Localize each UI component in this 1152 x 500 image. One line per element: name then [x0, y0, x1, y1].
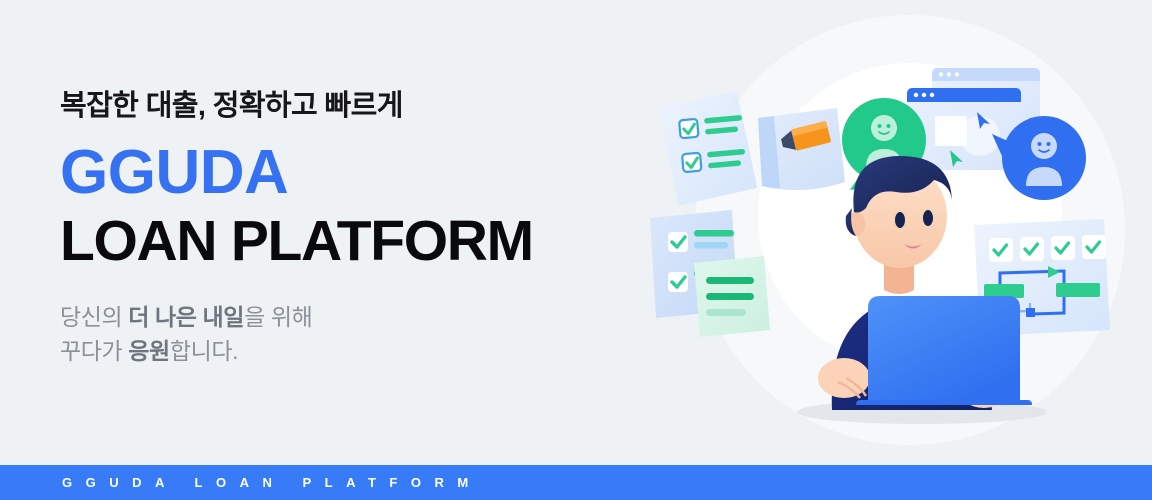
- tagline-2-prefix: 꾸다가: [60, 338, 128, 364]
- ticker-text: GGUDA LOAN PLATFORM: [0, 475, 482, 490]
- tagline-1-strong: 더 나은 내일: [128, 304, 244, 330]
- hero-banner: 복잡한 대출, 정확하고 빠르게 GGUDA LOAN PLATFORM 당신의…: [0, 0, 1152, 500]
- tagline-1-prefix: 당신의: [60, 304, 128, 330]
- laptop: [856, 296, 1032, 405]
- tagline-line-2: 꾸다가 응원합니다.: [60, 334, 620, 369]
- pencil-note-card: [758, 108, 845, 190]
- mint-note-card: [694, 256, 770, 337]
- hero-tagline: 당신의 더 나은 내일을 위해 꾸다가 응원합니다.: [60, 300, 620, 370]
- bottom-ticker-bar: GGUDA LOAN PLATFORM: [0, 465, 1152, 500]
- tagline-line-1: 당신의 더 나은 내일을 위해: [60, 300, 620, 335]
- hero-copy: 복잡한 대출, 정확하고 빠르게 GGUDA LOAN PLATFORM 당신의…: [60, 88, 620, 369]
- eye-left: [895, 212, 905, 228]
- hero-illustration: [632, 0, 1152, 470]
- tagline-1-suffix: 을 위해: [244, 304, 312, 330]
- brand-name: GGUDA: [60, 138, 620, 207]
- eye-right: [923, 210, 933, 226]
- product-name: LOAN PLATFORM: [60, 210, 620, 274]
- tagline-2-suffix: 합니다.: [170, 338, 238, 364]
- tagline-2-strong: 응원: [128, 338, 170, 364]
- hero-eyebrow: 복잡한 대출, 정확하고 빠르게: [60, 88, 620, 124]
